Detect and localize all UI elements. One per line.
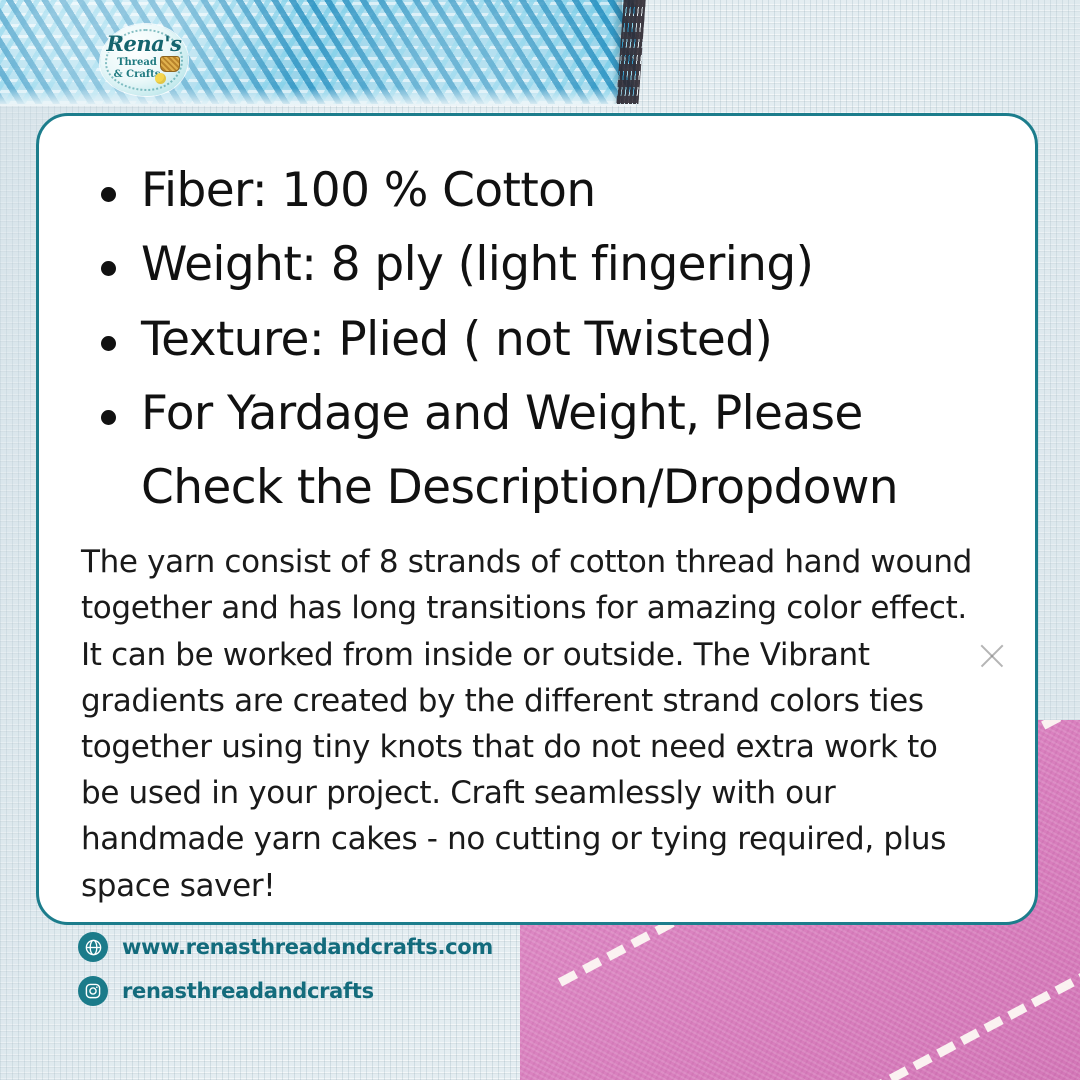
spec-item: For Yardage and Weight, Please Check the… <box>81 377 999 526</box>
footer-contact-block: www.renasthreadandcrafts.com renasthread… <box>78 932 493 1020</box>
globe-icon <box>78 932 108 962</box>
info-card: Fiber: 100 % Cotton Weight: 8 ply (light… <box>36 113 1038 925</box>
logo-brand-name: Rena's <box>100 31 188 56</box>
spec-item: Fiber: 100 % Cotton <box>81 154 999 228</box>
knit-band-edge-highlight <box>0 88 636 106</box>
product-spec-list: Fiber: 100 % Cotton Weight: 8 ply (light… <box>81 154 999 525</box>
website-url[interactable]: www.renasthreadandcrafts.com <box>122 935 493 959</box>
instagram-icon <box>78 976 108 1006</box>
instagram-handle[interactable]: renasthreadandcrafts <box>122 979 374 1003</box>
brand-logo: Rena's Thread & Crafts <box>100 24 188 96</box>
info-card-content: Fiber: 100 % Cotton Weight: 8 ply (light… <box>39 116 1035 922</box>
footer-instagram-row[interactable]: renasthreadandcrafts <box>78 976 493 1006</box>
spec-item: Texture: Plied ( not Twisted) <box>81 303 999 377</box>
product-description: The yarn consist of 8 strands of cotton … <box>81 539 999 909</box>
yarn-basket-icon <box>160 56 180 72</box>
yarn-ball-icon <box>155 73 166 84</box>
spec-item: Weight: 8 ply (light fingering) <box>81 228 999 302</box>
footer-website-row[interactable]: www.renasthreadandcrafts.com <box>78 932 493 962</box>
